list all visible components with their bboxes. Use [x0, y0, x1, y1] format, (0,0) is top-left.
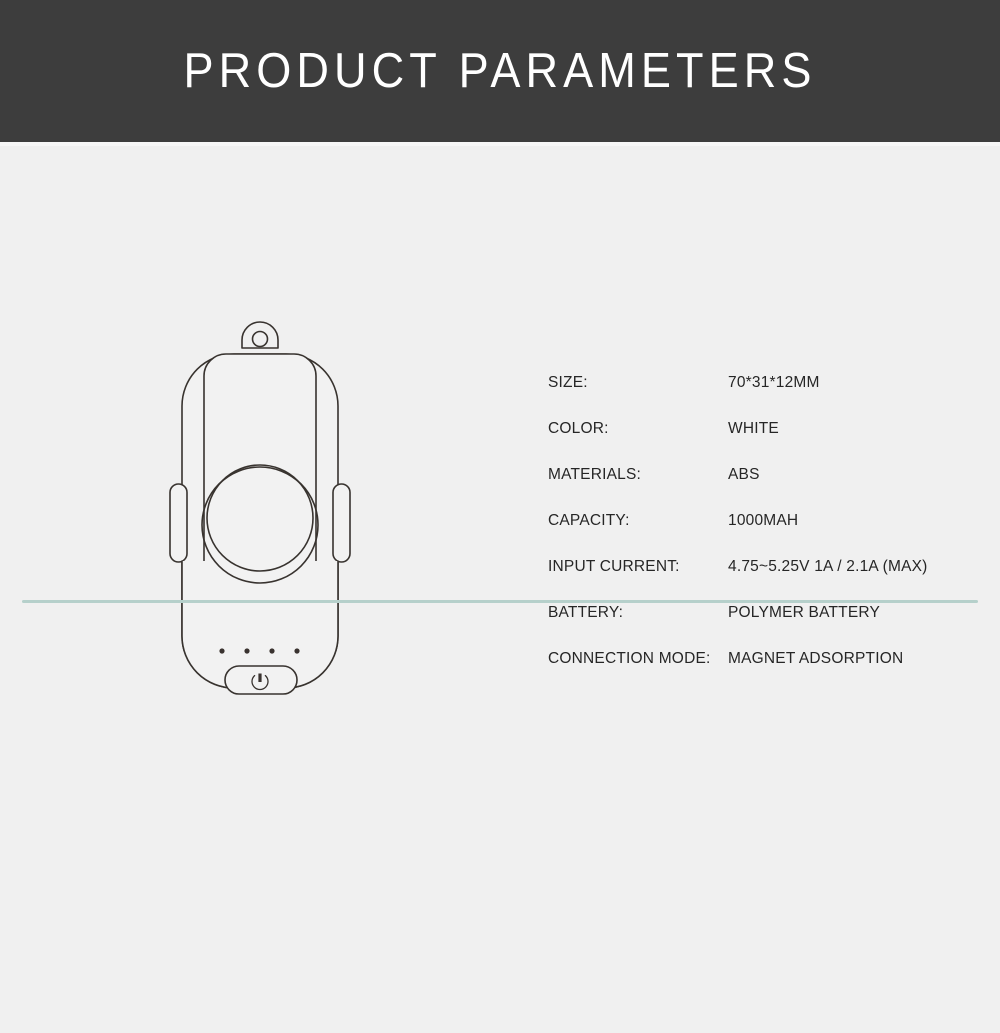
- spec-row: INPUT CURRENT: 4.75~5.25V 1A / 2.1A (MAX…: [548, 558, 928, 604]
- spec-label: SIZE:: [548, 374, 728, 392]
- page-title: PRODUCT PARAMETERS: [184, 43, 817, 99]
- spec-value: 1000MAH: [728, 512, 798, 530]
- product-parameters-page: PRODUCT PARAMETERS: [0, 0, 1000, 1033]
- spec-label: COLOR:: [548, 420, 728, 438]
- page-header-band: PRODUCT PARAMETERS: [0, 0, 1000, 142]
- spec-value: ABS: [728, 466, 760, 484]
- section-divider: [22, 600, 978, 603]
- spec-label: CAPACITY:: [548, 512, 728, 530]
- spec-row: SIZE: 70*31*12MM: [548, 374, 928, 420]
- spec-row: MATERIALS: ABS: [548, 466, 928, 512]
- spec-value: 4.75~5.25V 1A / 2.1A (MAX): [728, 558, 928, 576]
- section-keychain-power-bank: SIZE: 70*31*12MM COLOR: WHITE MATERIALS:…: [0, 146, 1000, 602]
- spec-value: 70*31*12MM: [728, 374, 820, 392]
- spec-label: MATERIALS:: [548, 466, 728, 484]
- spec-row: CAPACITY: 1000MAH: [548, 512, 928, 558]
- spec-value: WHITE: [728, 420, 779, 438]
- section-multi-port-power-bank: SIZE: 145.5*77.8*16MM COLOR: WHITE MATER…: [0, 610, 1000, 1033]
- spec-row: COLOR: WHITE: [548, 420, 928, 466]
- spec-label: INPUT CURRENT:: [548, 558, 728, 576]
